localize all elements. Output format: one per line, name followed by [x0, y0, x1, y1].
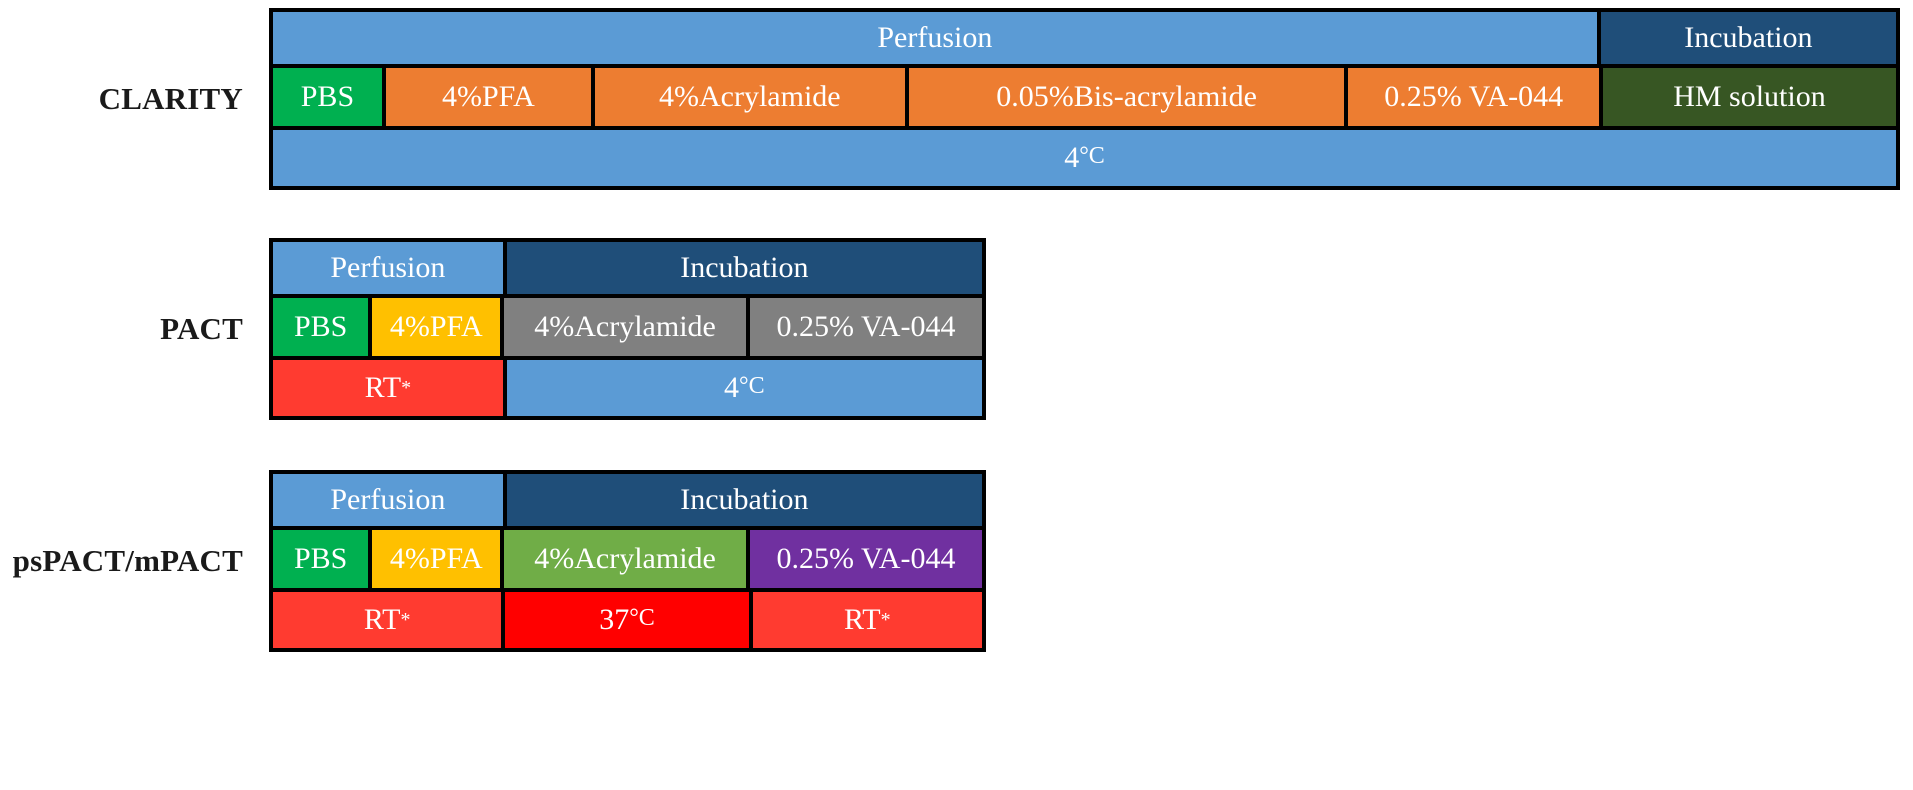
phase_row-label-incubation: Incubation	[680, 485, 808, 515]
reagent_row-cell-va-044: 0.25% VA-044	[1344, 68, 1599, 126]
phase_row-cell-perfusion: Perfusion	[273, 12, 1597, 64]
protocol-pact-reagent-row: PBS4%PFA4%Acrylamide0.25% VA-044	[273, 294, 982, 356]
protocol-name-pact: PACT	[160, 311, 269, 347]
phase_row-cell-perfusion: Perfusion	[273, 242, 503, 294]
reagent_row-cell-pfa: 4%PFA	[382, 68, 591, 126]
temp_row-label-temp-37c: 37	[599, 605, 629, 635]
reagent_row-label-pbs: PBS	[301, 82, 354, 112]
reagent_row-cell-bis-acrylamide: 0.05%Bis-acrylamide	[905, 68, 1345, 126]
protocol-clarity-reagent-row: PBS4%PFA4%Acrylamide0.05%Bis-acrylamide0…	[273, 64, 1896, 126]
reagent_row-label-acrylamide: 4%Acrylamide	[659, 82, 841, 112]
temp_row-cell-temp-rt: RT*	[273, 360, 503, 416]
protocol-comparison-diagram: CLARITYPerfusionIncubationPBS4%PFA4%Acry…	[0, 0, 1913, 790]
protocol-table-pspact: PerfusionIncubationPBS4%PFA4%Acrylamide0…	[269, 470, 986, 652]
phase_row-label-perfusion: Perfusion	[877, 23, 992, 53]
reagent_row-label-pbs: PBS	[294, 544, 347, 574]
temp_row-label-temp-4c: 4	[1064, 143, 1079, 173]
temp_row-label-temp-rt: RT	[365, 373, 402, 403]
reagent_row-cell-acrylamide: 4%Acrylamide	[591, 68, 905, 126]
reagent_row-label-pfa: 4%PFA	[390, 312, 483, 342]
reagent_row-label-pfa: 4%PFA	[442, 82, 535, 112]
temp_row-label-temp-rt: RT	[364, 605, 401, 635]
temp_row-label-temp-4c: 4	[724, 373, 739, 403]
reagent_row-cell-va-044: 0.25% VA-044	[746, 530, 982, 588]
phase_row-cell-incubation: Incubation	[503, 474, 982, 526]
temp_row-cell-temp-4c: 4°C	[273, 130, 1896, 186]
reagent_row-cell-pfa: 4%PFA	[368, 530, 500, 588]
phase_row-label-perfusion: Perfusion	[330, 485, 445, 515]
phase_row-label-incubation: Incubation	[680, 253, 808, 283]
protocol-name-clarity: CLARITY	[99, 81, 269, 117]
reagent_row-label-hm-solution: HM solution	[1673, 82, 1826, 112]
phase_row-cell-incubation: Incubation	[1597, 12, 1896, 64]
protocol-pspact-phase-row: PerfusionIncubation	[273, 474, 982, 526]
temp_row-cell-temp-4c: 4°C	[503, 360, 982, 416]
reagent_row-label-pfa: 4%PFA	[390, 544, 483, 574]
reagent_row-cell-pbs: PBS	[273, 68, 382, 126]
phase_row-label-incubation: Incubation	[1684, 23, 1812, 53]
protocol-pact-temp-row: RT*4°C	[273, 356, 982, 416]
reagent_row-label-acrylamide: 4%Acrylamide	[534, 312, 716, 342]
reagent_row-cell-acrylamide: 4%Acrylamide	[500, 298, 746, 356]
protocol-pspact-reagent-row: PBS4%PFA4%Acrylamide0.25% VA-044	[273, 526, 982, 588]
protocol-table-pact: PerfusionIncubationPBS4%PFA4%Acrylamide0…	[269, 238, 986, 420]
protocol-table-clarity: PerfusionIncubationPBS4%PFA4%Acrylamide0…	[269, 8, 1900, 190]
reagent_row-cell-hm-solution: HM solution	[1599, 68, 1896, 126]
temp_row-cell-temp-rt: RT*	[273, 592, 501, 648]
phase_row-label-perfusion: Perfusion	[330, 253, 445, 283]
protocol-pspact-mpact: psPACT/mPACTPerfusionIncubationPBS4%PFA4…	[269, 470, 986, 652]
reagent_row-label-va-044: 0.25% VA-044	[777, 312, 956, 342]
reagent_row-cell-pfa: 4%PFA	[368, 298, 500, 356]
phase_row-cell-perfusion: Perfusion	[273, 474, 503, 526]
temp_row-label-temp-rt-2: RT	[844, 605, 881, 635]
reagent_row-label-bis-acrylamide: 0.05%Bis-acrylamide	[996, 82, 1257, 112]
reagent_row-label-pbs: PBS	[294, 312, 347, 342]
reagent_row-cell-pbs: PBS	[273, 298, 368, 356]
reagent_row-cell-acrylamide: 4%Acrylamide	[500, 530, 746, 588]
protocol-clarity-temp-row: 4°C	[273, 126, 1896, 186]
protocol-name-pspact: psPACT/mPACT	[13, 543, 269, 579]
protocol-clarity: CLARITYPerfusionIncubationPBS4%PFA4%Acry…	[269, 8, 1900, 190]
protocol-pspact-temp-row: RT*37°CRT*	[273, 588, 982, 648]
protocol-clarity-phase-row: PerfusionIncubation	[273, 12, 1896, 64]
protocol-pact-phase-row: PerfusionIncubation	[273, 242, 982, 294]
protocol-pact: PACTPerfusionIncubationPBS4%PFA4%Acrylam…	[269, 238, 986, 420]
temp_row-cell-temp-rt-2: RT*	[749, 592, 982, 648]
temp_row-cell-temp-37c: 37°C	[501, 592, 748, 648]
reagent_row-cell-va-044: 0.25% VA-044	[746, 298, 982, 356]
reagent_row-label-acrylamide: 4%Acrylamide	[534, 544, 716, 574]
reagent_row-label-va-044: 0.25% VA-044	[1384, 82, 1563, 112]
phase_row-cell-incubation: Incubation	[503, 242, 982, 294]
reagent_row-label-va-044: 0.25% VA-044	[777, 544, 956, 574]
reagent_row-cell-pbs: PBS	[273, 530, 368, 588]
